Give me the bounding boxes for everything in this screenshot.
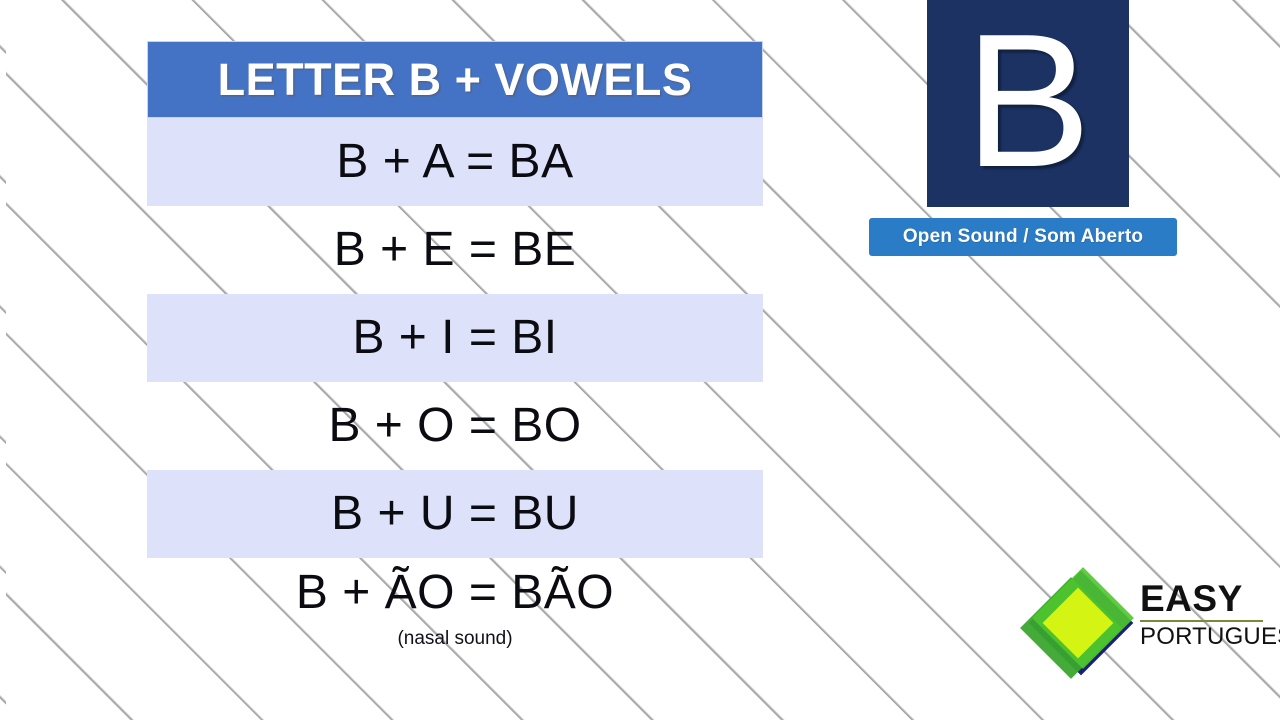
letter-card: B bbox=[927, 0, 1129, 207]
table-row: B + U = BU bbox=[147, 470, 763, 558]
table-row-text: B + I = BI bbox=[352, 314, 557, 362]
table-row: B + E = BE bbox=[147, 206, 763, 294]
logo-text-easy: EASY bbox=[1140, 580, 1265, 617]
logo-divider bbox=[1140, 620, 1263, 622]
table-row-text: B + U = BU bbox=[331, 490, 579, 538]
easy-portuguese-logo: EASY PORTUGUESE bbox=[1020, 570, 1265, 690]
table-row-text: B + O = BO bbox=[328, 402, 581, 450]
table-row-text: B + ÃO = BÃO bbox=[296, 569, 614, 617]
table-header: LETTER B + VOWELS bbox=[147, 41, 763, 118]
table-row: B + O = BO bbox=[147, 382, 763, 470]
letter-card-glyph: B bbox=[965, 11, 1092, 192]
letter-b-vowel-table: LETTER B + VOWELS B + A = BA B + E = BE … bbox=[147, 41, 763, 662]
logo-diamond-mark-icon bbox=[1020, 570, 1140, 690]
table-row-text: B + A = BA bbox=[336, 138, 573, 186]
table-header-label: LETTER B + VOWELS bbox=[218, 54, 693, 106]
table-row: B + A = BA bbox=[147, 118, 763, 206]
table-row: B + ÃO = BÃO bbox=[147, 558, 763, 628]
logo-wordmark: EASY PORTUGUESE bbox=[1140, 580, 1265, 649]
sound-type-badge-label: Open Sound / Som Aberto bbox=[903, 226, 1143, 248]
table-row: B + I = BI bbox=[147, 294, 763, 382]
logo-text-portuguese: PORTUGUESE bbox=[1140, 624, 1265, 649]
slide-canvas: LETTER B + VOWELS B + A = BA B + E = BE … bbox=[0, 0, 1280, 720]
nasal-sound-note-row: (nasal sound) bbox=[147, 628, 763, 662]
nasal-sound-note: (nasal sound) bbox=[397, 628, 512, 650]
table-row-text: B + E = BE bbox=[334, 226, 576, 274]
sound-type-badge: Open Sound / Som Aberto bbox=[869, 218, 1177, 256]
